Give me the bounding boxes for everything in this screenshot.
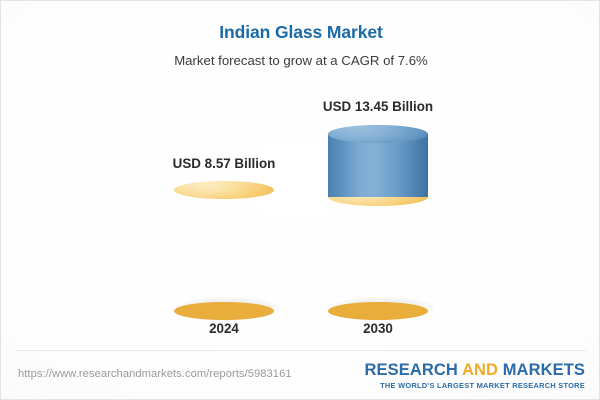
bar-value-label-2024: USD 8.57 Billion <box>104 156 344 171</box>
brand-logo[interactable]: RESEARCH AND MARKETS THE WORLD'S LARGEST… <box>365 361 586 390</box>
report-url[interactable]: https://www.researchandmarkets.com/repor… <box>18 368 292 380</box>
brand-logo-and: AND <box>462 361 503 379</box>
bar-value-label-2030: USD 13.45 Billion <box>258 99 498 114</box>
bar-cylinder-top-2030 <box>328 125 428 143</box>
brand-logo-markets: MARKETS <box>503 361 585 379</box>
bar-cylinder-body-2024 <box>174 190 274 311</box>
bar-cylinder-2024[interactable] <box>174 181 274 311</box>
bar-cylinder-2030[interactable] <box>328 125 428 311</box>
brand-logo-wordmark: RESEARCH AND MARKETS <box>365 361 586 379</box>
bar-segment-base-2030 <box>328 197 428 311</box>
bar-category-label-2030: 2030 <box>258 321 498 336</box>
brand-logo-research: RESEARCH <box>365 361 462 379</box>
bar-cylinder-top-2024 <box>174 181 274 199</box>
chart-card: Indian Glass Market Market forecast to g… <box>0 0 600 400</box>
footer-divider <box>15 350 587 351</box>
chart-plot-area: USD 8.57 Billion 2024 USD 13.45 Billion … <box>1 1 600 400</box>
bar-segment-growth-2030 <box>328 134 428 197</box>
brand-logo-tagline: THE WORLD'S LARGEST MARKET RESEARCH STOR… <box>365 381 586 390</box>
